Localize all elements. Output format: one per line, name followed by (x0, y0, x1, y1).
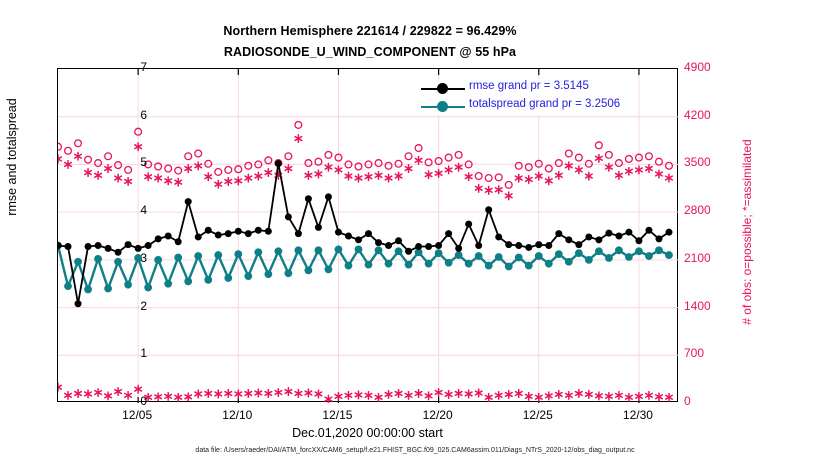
y-axis-left-tick: 2 (107, 299, 147, 313)
y-axis-left-tick: 1 (107, 346, 147, 360)
y-axis-left-tick: 6 (107, 108, 147, 122)
series-totalspread (58, 242, 673, 294)
y-axis-right-tick: 4900 (684, 60, 711, 74)
chart-title-line2: RADIOSONDE_U_WIND_COMPONENT @ 55 hPa (0, 45, 740, 59)
y-axis-left-label: rmse and totalspread (5, 7, 19, 307)
x-axis-tick: 12/15 (302, 408, 372, 422)
x-axis-tick: 12/05 (102, 408, 172, 422)
legend-label: rmse grand pr = 3.5145 (469, 80, 589, 92)
y-axis-left-tick: 7 (107, 60, 147, 74)
y-axis-right-tick: 3500 (684, 155, 711, 169)
legend-item[interactable]: rmse grand pr = 3.5145 (417, 79, 627, 97)
y-axis-right-tick: 700 (684, 346, 704, 360)
y-axis-left-tick: 5 (107, 155, 147, 169)
legend-label: totalspread grand pr = 3.2506 (469, 98, 620, 110)
plot-area (57, 68, 678, 402)
plot-svg (58, 69, 679, 403)
y-axis-left-tick: 3 (107, 251, 147, 265)
chart-legend[interactable]: rmse grand pr = 3.5145totalspread grand … (417, 79, 627, 115)
y-axis-right-tick: 2800 (684, 203, 711, 217)
legend-marker-icon (437, 101, 448, 112)
legend-marker-icon (437, 83, 448, 94)
series-rejected-obs (58, 383, 672, 403)
y-axis-right-tick: 2100 (684, 251, 711, 265)
legend-item[interactable]: totalspread grand pr = 3.2506 (417, 97, 627, 115)
y-axis-right-tick: 1400 (684, 299, 711, 313)
footer-datafile: data file: /Users/raeder/DAI/ATM_forcXX/… (0, 447, 830, 454)
y-axis-right-tick: 4200 (684, 108, 711, 122)
x-axis-label: Dec.01,2020 00:00:00 start (57, 426, 678, 440)
chart-title-line1: Northern Hemisphere 221614 / 229822 = 96… (0, 24, 740, 38)
y-axis-right-label: # of obs: o=possible; *=assimilated (740, 67, 754, 397)
y-axis-left-tick: 4 (107, 203, 147, 217)
chart-page: Northern Hemisphere 221614 / 229822 = 96… (0, 0, 830, 470)
x-axis-tick: 12/25 (503, 408, 573, 422)
x-axis-tick: 12/30 (603, 408, 673, 422)
y-axis-right-tick: 0 (684, 394, 691, 408)
x-axis-tick: 12/20 (403, 408, 473, 422)
x-axis-tick: 12/10 (202, 408, 272, 422)
y-axis-left-tick: 0 (107, 394, 147, 408)
